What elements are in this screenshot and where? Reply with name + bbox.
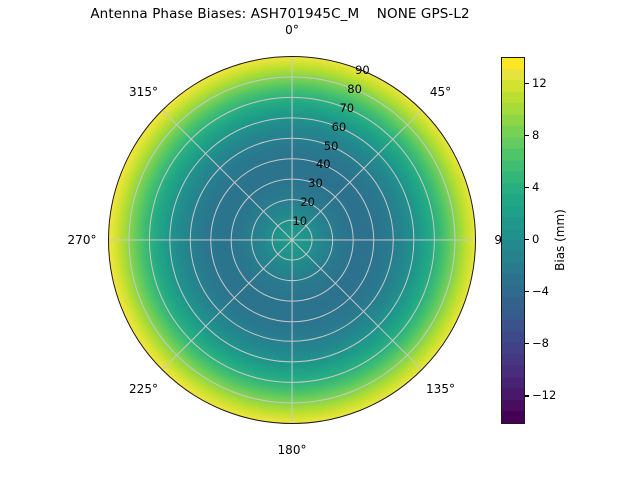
polar-radial-tick-label: 50 bbox=[324, 139, 339, 153]
polar-angular-tick-label: 315° bbox=[129, 85, 158, 99]
polar-radial-tick-label: 70 bbox=[339, 101, 354, 115]
polar-angular-tick-label: 225° bbox=[129, 382, 158, 396]
colorbar-canvas bbox=[502, 58, 524, 423]
colorbar-tick-label: 12 bbox=[532, 76, 547, 90]
colorbar-tick-label: 0 bbox=[532, 232, 539, 246]
colorbar-tick bbox=[525, 187, 529, 188]
colorbar[interactable]: 12840−4−8−12 bbox=[501, 57, 525, 424]
polar-angular-tick-label: 45° bbox=[430, 85, 451, 99]
colorbar-tick-label: −8 bbox=[532, 336, 549, 350]
colorbar-tick bbox=[525, 395, 529, 396]
colorbar-tick bbox=[525, 135, 529, 136]
colorbar-tick bbox=[525, 291, 529, 292]
figure-canvas: Antenna Phase Biases: ASH701945C_M NONE … bbox=[0, 0, 640, 480]
colorbar-tick bbox=[525, 343, 529, 344]
colorbar-tick-label: 4 bbox=[532, 180, 539, 194]
colorbar-label: Bias (mm) bbox=[553, 209, 567, 271]
polar-radial-tick-label: 20 bbox=[300, 195, 315, 209]
polar-angular-tick-label: 180° bbox=[278, 443, 307, 457]
polar-angular-tick-label: 0° bbox=[285, 23, 299, 37]
colorbar-tick bbox=[525, 239, 529, 240]
colorbar-gradient bbox=[501, 57, 525, 424]
colorbar-tick bbox=[525, 83, 529, 84]
figure-title: Antenna Phase Biases: ASH701945C_M NONE … bbox=[0, 6, 560, 22]
polar-axes[interactable]: 102030405060708090 bbox=[108, 56, 476, 424]
polar-radial-tick-label: 30 bbox=[308, 176, 323, 190]
polar-radial-tick-label: 10 bbox=[292, 214, 307, 228]
polar-angular-tick-label: 270° bbox=[68, 233, 97, 247]
polar-radial-tick-label: 60 bbox=[332, 120, 347, 134]
colorbar-tick-label: 8 bbox=[532, 128, 539, 142]
colorbar-tick-label: −12 bbox=[532, 388, 556, 402]
colorbar-tick-label: −4 bbox=[532, 284, 549, 298]
polar-radial-tick-label: 80 bbox=[347, 82, 362, 96]
polar-angular-tick-label: 135° bbox=[426, 382, 455, 396]
polar-radial-tick-label: 40 bbox=[316, 157, 331, 171]
polar-radial-tick-label: 90 bbox=[355, 63, 370, 77]
